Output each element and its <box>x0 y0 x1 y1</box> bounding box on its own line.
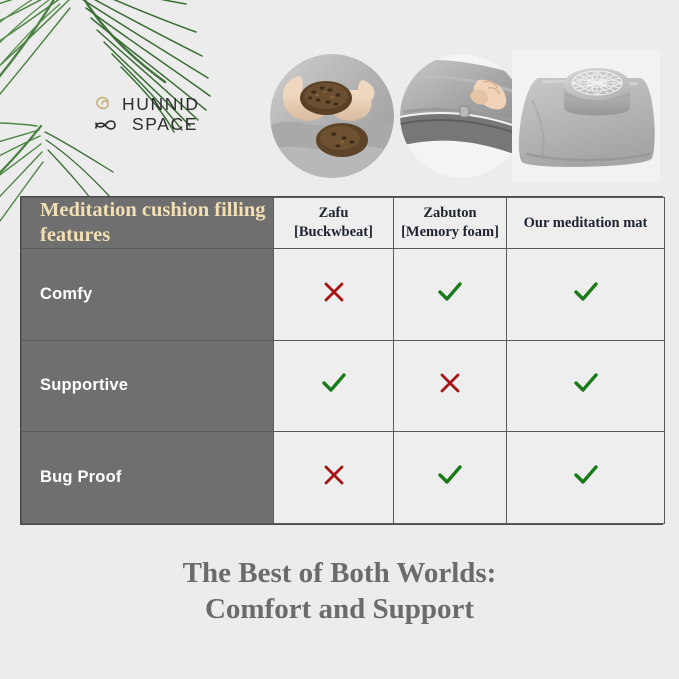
row-label-cell: Bug Proof <box>22 432 274 524</box>
column-header-zabuton-line-1: Zabuton <box>400 204 500 223</box>
row-label: Supportive <box>40 376 273 395</box>
cell-check <box>394 432 507 524</box>
brand-name-line-1: HUNNID <box>122 95 200 115</box>
row-label-cell: Comfy <box>22 249 274 341</box>
meditation-set-photo <box>512 50 660 182</box>
column-header-zabuton-line-2: [Memory foam] <box>400 223 500 242</box>
check-icon <box>435 460 465 490</box>
infographic-root: HUNNID SPACE <box>0 0 679 679</box>
cell-check <box>394 249 507 341</box>
column-header-zabuton: Zabuton [Memory foam] <box>394 198 507 249</box>
spiral-infinity-logo-icon <box>92 92 118 138</box>
cell-cross <box>394 340 507 432</box>
cell-cross <box>274 432 394 524</box>
check-icon <box>571 460 601 490</box>
column-header-zafu-line-1: Zafu <box>280 204 387 223</box>
brand-logo: HUNNID SPACE <box>92 92 200 138</box>
row-label-cell: Supportive <box>22 340 274 432</box>
table-header-row: Meditation cushion filling features Zafu… <box>22 198 665 249</box>
table-row: Comfy <box>22 249 665 341</box>
cell-check <box>507 340 665 432</box>
column-header-zafu: Zafu [Buckwbeat] <box>274 198 394 249</box>
check-icon <box>571 368 601 398</box>
column-header-our-mat-line-1: Our meditation mat <box>513 214 658 233</box>
column-header-zafu-line-2: [Buckwbeat] <box>280 223 387 242</box>
check-icon <box>571 277 601 307</box>
check-icon <box>319 368 349 398</box>
cross-icon <box>319 460 349 490</box>
brand-name-line-2: SPACE <box>132 115 200 135</box>
cross-icon <box>319 277 349 307</box>
cell-check <box>274 340 394 432</box>
row-label: Bug Proof <box>40 468 273 487</box>
table-title-cell: Meditation cushion filling features <box>22 198 274 249</box>
zipper-closure-photo <box>400 54 524 178</box>
comparison-table: Meditation cushion filling features Zafu… <box>20 196 663 525</box>
cell-cross <box>274 249 394 341</box>
row-label: Comfy <box>40 285 273 304</box>
table-body: ComfySupportiveBug Proof <box>22 249 665 524</box>
table-row: Bug Proof <box>22 432 665 524</box>
tagline-line-1: The Best of Both Worlds: <box>0 556 679 592</box>
tagline: The Best of Both Worlds: Comfort and Sup… <box>0 556 679 628</box>
cell-check <box>507 432 665 524</box>
check-icon <box>435 277 465 307</box>
buckwheat-hull-filling-photo <box>270 54 394 178</box>
tagline-line-2: Comfort and Support <box>0 592 679 628</box>
table-row: Supportive <box>22 340 665 432</box>
cell-check <box>507 249 665 341</box>
table-title: Meditation cushion filling features <box>40 198 273 248</box>
column-header-our-mat: Our meditation mat <box>507 198 665 249</box>
cross-icon <box>435 368 465 398</box>
